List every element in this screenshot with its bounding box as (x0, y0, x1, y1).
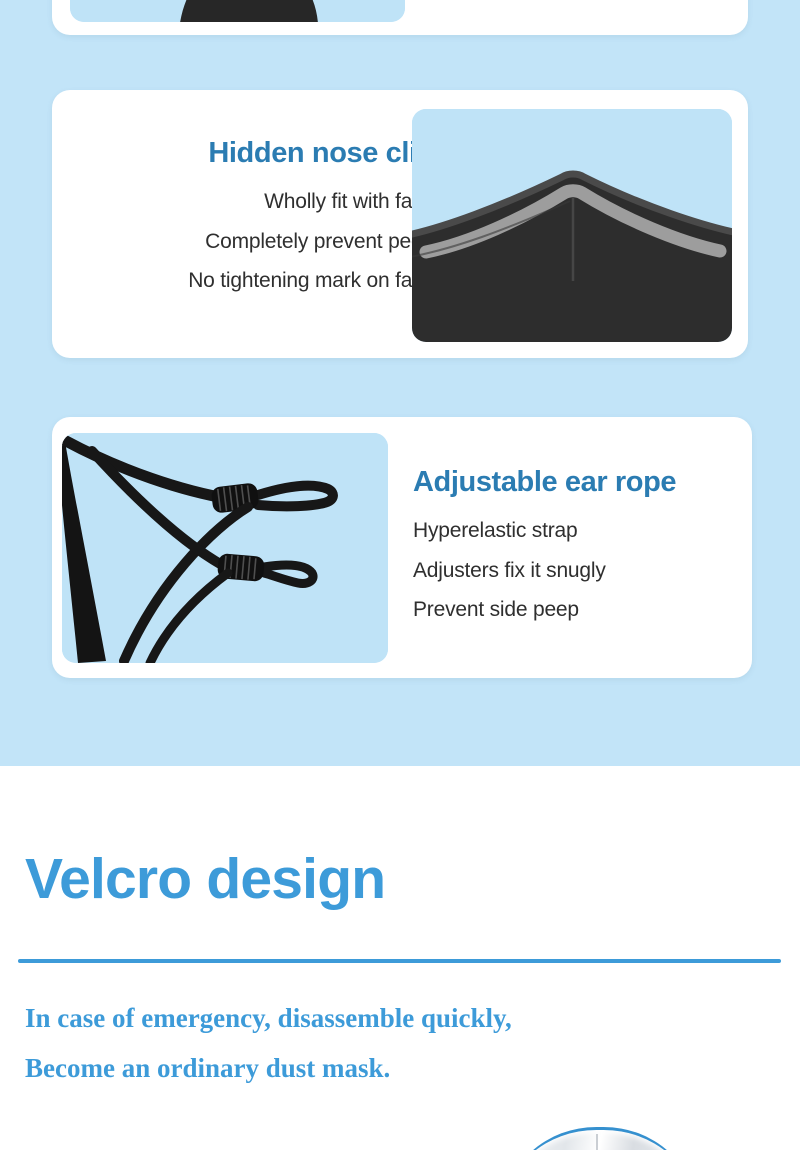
card-one-text-block: Hidden nose clip Wholly fit with face Co… (92, 138, 434, 300)
adjustable-ear-rope-closeup-icon (62, 433, 388, 663)
nose-clip-photo (412, 109, 732, 342)
feature-title-adjustable-ear-rope: Adjustable ear rope (413, 467, 743, 497)
feature-line: Completely prevent peep (92, 222, 434, 261)
feature-card-hidden-nose-clip: Hidden nose clip Wholly fit with face Co… (52, 90, 748, 358)
feature-card-adjustable-ear-rope: Adjustable ear rope Hyperelastic strap A… (52, 417, 752, 678)
feature-line: Wholly fit with face (92, 182, 434, 221)
feature-title-hidden-nose-clip: Hidden nose clip (92, 138, 434, 168)
feature-line: No tightening mark on face (92, 261, 434, 300)
section-divider (18, 959, 781, 963)
feature-line: Adjusters fix it snugly (413, 551, 743, 590)
blue-feature-band: Hidden nose clip Wholly fit with face Co… (0, 0, 800, 766)
feature-line: Hyperelastic strap (413, 511, 743, 550)
velcro-design-heading: Velcro design (25, 851, 385, 908)
velcro-subtitle-line: Become an ordinary dust mask. (25, 1044, 765, 1094)
mask-photo-partial (70, 0, 405, 22)
feature-line: Prevent side peep (413, 590, 743, 629)
velcro-design-subtitle: In case of emergency, disassemble quickl… (25, 994, 765, 1094)
velcro-subtitle-line: In case of emergency, disassemble quickl… (25, 994, 765, 1044)
velcro-design-section: Velcro design In case of emergency, disa… (0, 766, 800, 1150)
product-detail-page: Hidden nose clip Wholly fit with face Co… (0, 0, 800, 1150)
black-mask-photo-icon (70, 0, 405, 22)
card-two-text-block: Adjustable ear rope Hyperelastic strap A… (413, 467, 743, 629)
mask-nose-clip-closeup-icon (412, 109, 732, 342)
ear-rope-photo (62, 433, 388, 663)
feature-card-partial (52, 0, 748, 35)
